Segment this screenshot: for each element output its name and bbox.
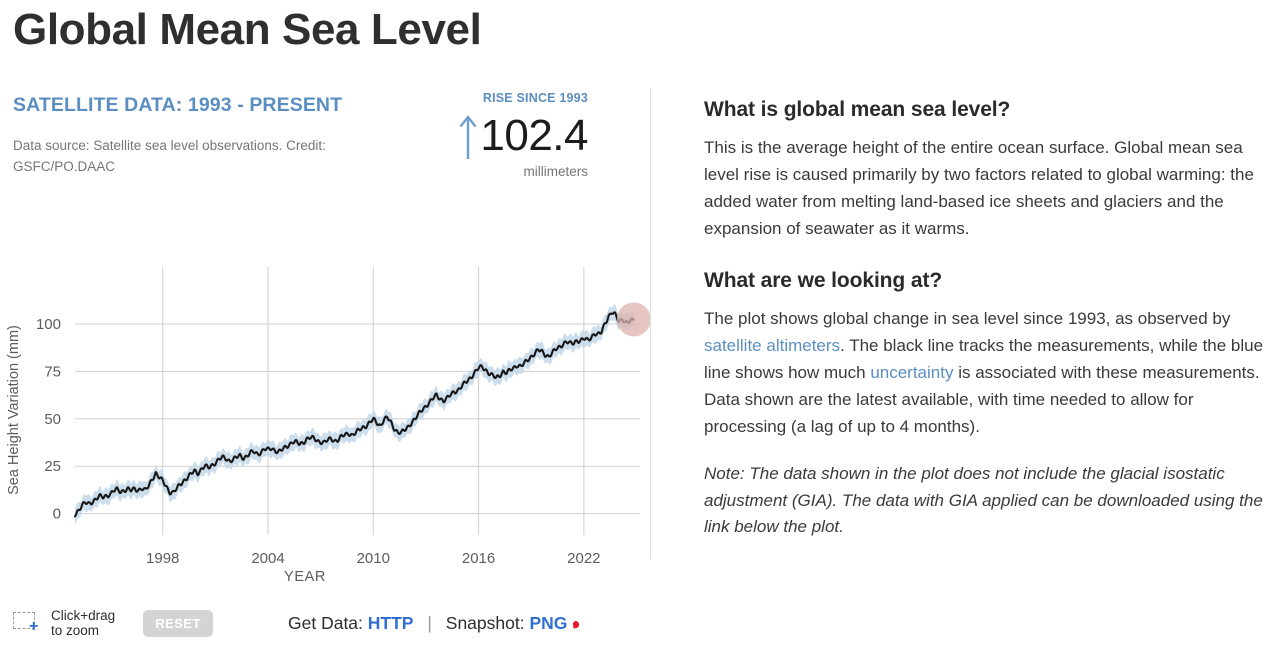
uncertainty-band (75, 304, 634, 524)
left-panel: SATELLITE DATA: 1993 - PRESENT Data sour… (0, 88, 650, 559)
sea-level-page: Global Mean Sea Level SATELLITE DATA: 19… (0, 0, 1280, 559)
page-title: Global Mean Sea Level (13, 8, 481, 52)
rise-stat-row: 102.4 (388, 110, 588, 162)
satellite-altimeters-link[interactable]: satellite altimeters (704, 336, 840, 355)
heading-what-looking-at: What are we looking at? (704, 269, 1280, 293)
chart-gridlines (75, 267, 640, 535)
rise-stat-block: RISE SINCE 1993 102.4 millimeters (388, 92, 588, 178)
reset-button[interactable]: RESET (143, 610, 213, 637)
zoom-hint-line2: to zoom (51, 623, 99, 638)
uncertainty-band-path (75, 304, 634, 524)
y-tick-label: 25 (44, 458, 61, 475)
sea-level-line-path (75, 312, 634, 516)
arrow-up-icon (458, 114, 478, 160)
y-tick-label: 100 (36, 316, 61, 333)
heading-what-is-gmsl: What is global mean sea level? (704, 98, 1280, 122)
latest-value-highlight (617, 302, 650, 336)
zoom-hint-text: Click+drag to zoom (51, 608, 115, 638)
links-separator: | (427, 613, 432, 633)
panel-divider (650, 88, 651, 559)
para2-text-a: The plot shows global change in sea leve… (704, 309, 1230, 328)
sea-level-chart[interactable]: 0255075100 19982004201020162022 Sea Heig… (0, 200, 650, 590)
y-tick-label: 75 (44, 363, 61, 380)
chart-links: Get Data: HTTP | Snapshot: PNG (288, 613, 567, 634)
paragraph-what-looking-at: The plot shows global change in sea leve… (704, 306, 1280, 440)
get-data-label: Get Data: (288, 613, 363, 633)
zoom-hint: + Click+drag to zoom (13, 608, 115, 638)
y-axis-title: Sea Height Variation (mm) (6, 325, 22, 495)
zoom-hint-line1: Click+drag (51, 608, 115, 623)
chart-svg[interactable]: 0255075100 19982004201020162022 Sea Heig… (0, 200, 650, 590)
snapshot-label: Snapshot: (446, 613, 525, 633)
y-tick-label: 0 (53, 506, 61, 523)
rise-stat-units: millimeters (388, 165, 588, 179)
y-axis-tick-labels: 0255075100 (36, 316, 61, 523)
uncertainty-link[interactable]: uncertainty (870, 363, 953, 382)
paragraph-gia-note: Note: The data shown in the plot does no… (704, 461, 1280, 542)
y-tick-label: 50 (44, 411, 61, 428)
sea-level-line (75, 312, 634, 516)
latest-value-highlight (617, 302, 650, 336)
rise-stat-label: RISE SINCE 1993 (388, 92, 588, 105)
paragraph-what-is-gmsl: This is the average height of the entire… (704, 135, 1280, 242)
click-drag-zoom-icon: + (13, 612, 43, 634)
rise-stat-value: 102.4 (480, 114, 588, 158)
png-snapshot-link[interactable]: PNG (529, 613, 567, 633)
http-download-link[interactable]: HTTP (368, 613, 414, 633)
panel-subtitle: SATELLITE DATA: 1993 - PRESENT (13, 94, 342, 117)
x-axis-title: YEAR (284, 569, 326, 585)
right-panel: What is global mean sea level? This is t… (704, 88, 1280, 559)
data-source-text: Data source: Satellite sea level observa… (13, 136, 383, 178)
